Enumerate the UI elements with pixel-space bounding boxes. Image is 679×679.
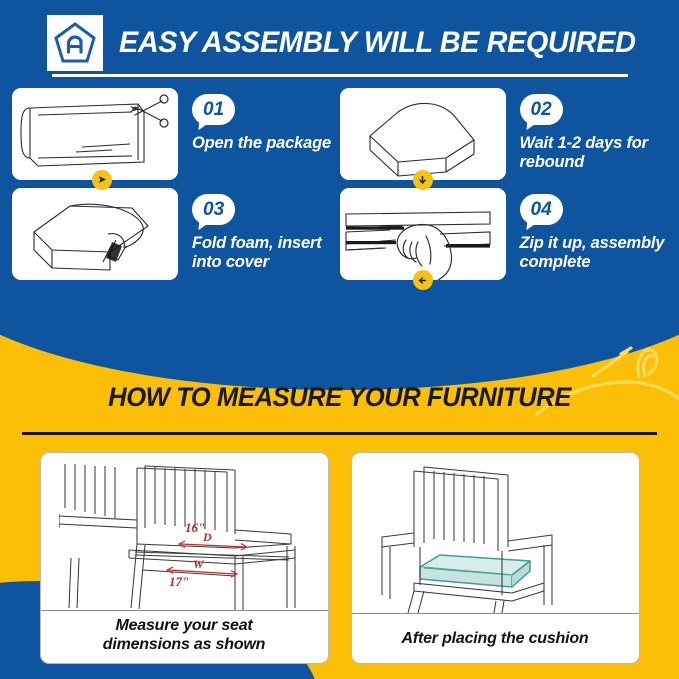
step-04-text: 04 Zip it up, assembly complete: [520, 188, 668, 272]
infographic-canvas: EASY ASSEMBLY WILL BE REQUIRED: [0, 0, 679, 679]
step-04-label: Zip it up, assembly complete: [520, 234, 668, 272]
chair-with-measurements-illustration: 16" D W 17": [41, 453, 328, 610]
step-03-text: 03 Fold foam, insert into cover: [192, 188, 340, 272]
step-01: ➤ 01 Open the package: [12, 88, 340, 180]
step-02-number: 02: [520, 94, 563, 125]
width-value-label: 17": [169, 574, 189, 589]
step-03: 03 Fold foam, insert into cover: [12, 188, 340, 280]
page-title: EASY ASSEMBLY WILL BE REQUIRED: [119, 26, 636, 60]
measure-card-1-caption: Measure your seat dimensions as shown: [41, 610, 328, 663]
arrow-right-icon: ➤: [92, 170, 112, 190]
depth-letter-label: D: [202, 530, 212, 544]
hand-zipping-cushion-illustration: [340, 188, 506, 280]
step-03-number: 03: [192, 194, 235, 225]
header-divider: [52, 74, 628, 77]
measure-card-cushion: After placing the cushion: [351, 452, 640, 664]
step-02-text: 02 Wait 1-2 days for rebound: [520, 88, 668, 172]
package-with-scissors-illustration: ➤: [12, 88, 178, 180]
caption-line-1: Measure your seat: [49, 617, 320, 636]
arrow-left-icon: [413, 270, 433, 290]
measure-card-dimensions: 16" D W 17" Measure your seat dimensions…: [40, 452, 329, 664]
arrow-down-icon: [413, 170, 433, 190]
measure-section-title: HOW TO MEASURE YOUR FURNITURE: [17, 382, 662, 413]
step-01-number: 01: [192, 94, 235, 125]
measure-cards: 16" D W 17" Measure your seat dimensions…: [0, 452, 679, 664]
step-02-label: Wait 1-2 days for rebound: [520, 134, 668, 172]
width-letter-label: W: [193, 557, 205, 571]
step-04: 04 Zip it up, assembly complete: [340, 188, 668, 280]
measure-section-divider: [22, 432, 657, 435]
caption-line-2: dimensions as shown: [49, 636, 320, 655]
chair-with-cushion-illustration: [352, 453, 639, 613]
foam-cushion-illustration: [340, 88, 506, 180]
step-02: 02 Wait 1-2 days for rebound: [340, 88, 668, 180]
caption-line-1: After placing the cushion: [360, 630, 631, 649]
step-01-text: 01 Open the package: [192, 88, 340, 153]
step-01-label: Open the package: [192, 134, 340, 153]
fold-foam-into-cover-illustration: [12, 188, 178, 280]
measure-card-2-caption: After placing the cushion: [352, 613, 639, 664]
step-04-number: 04: [520, 194, 563, 225]
step-03-label: Fold foam, insert into cover: [192, 234, 340, 272]
assembly-steps-grid: ➤ 01 Open the package: [0, 88, 679, 280]
house-pentagon-logo-icon: [47, 15, 103, 71]
